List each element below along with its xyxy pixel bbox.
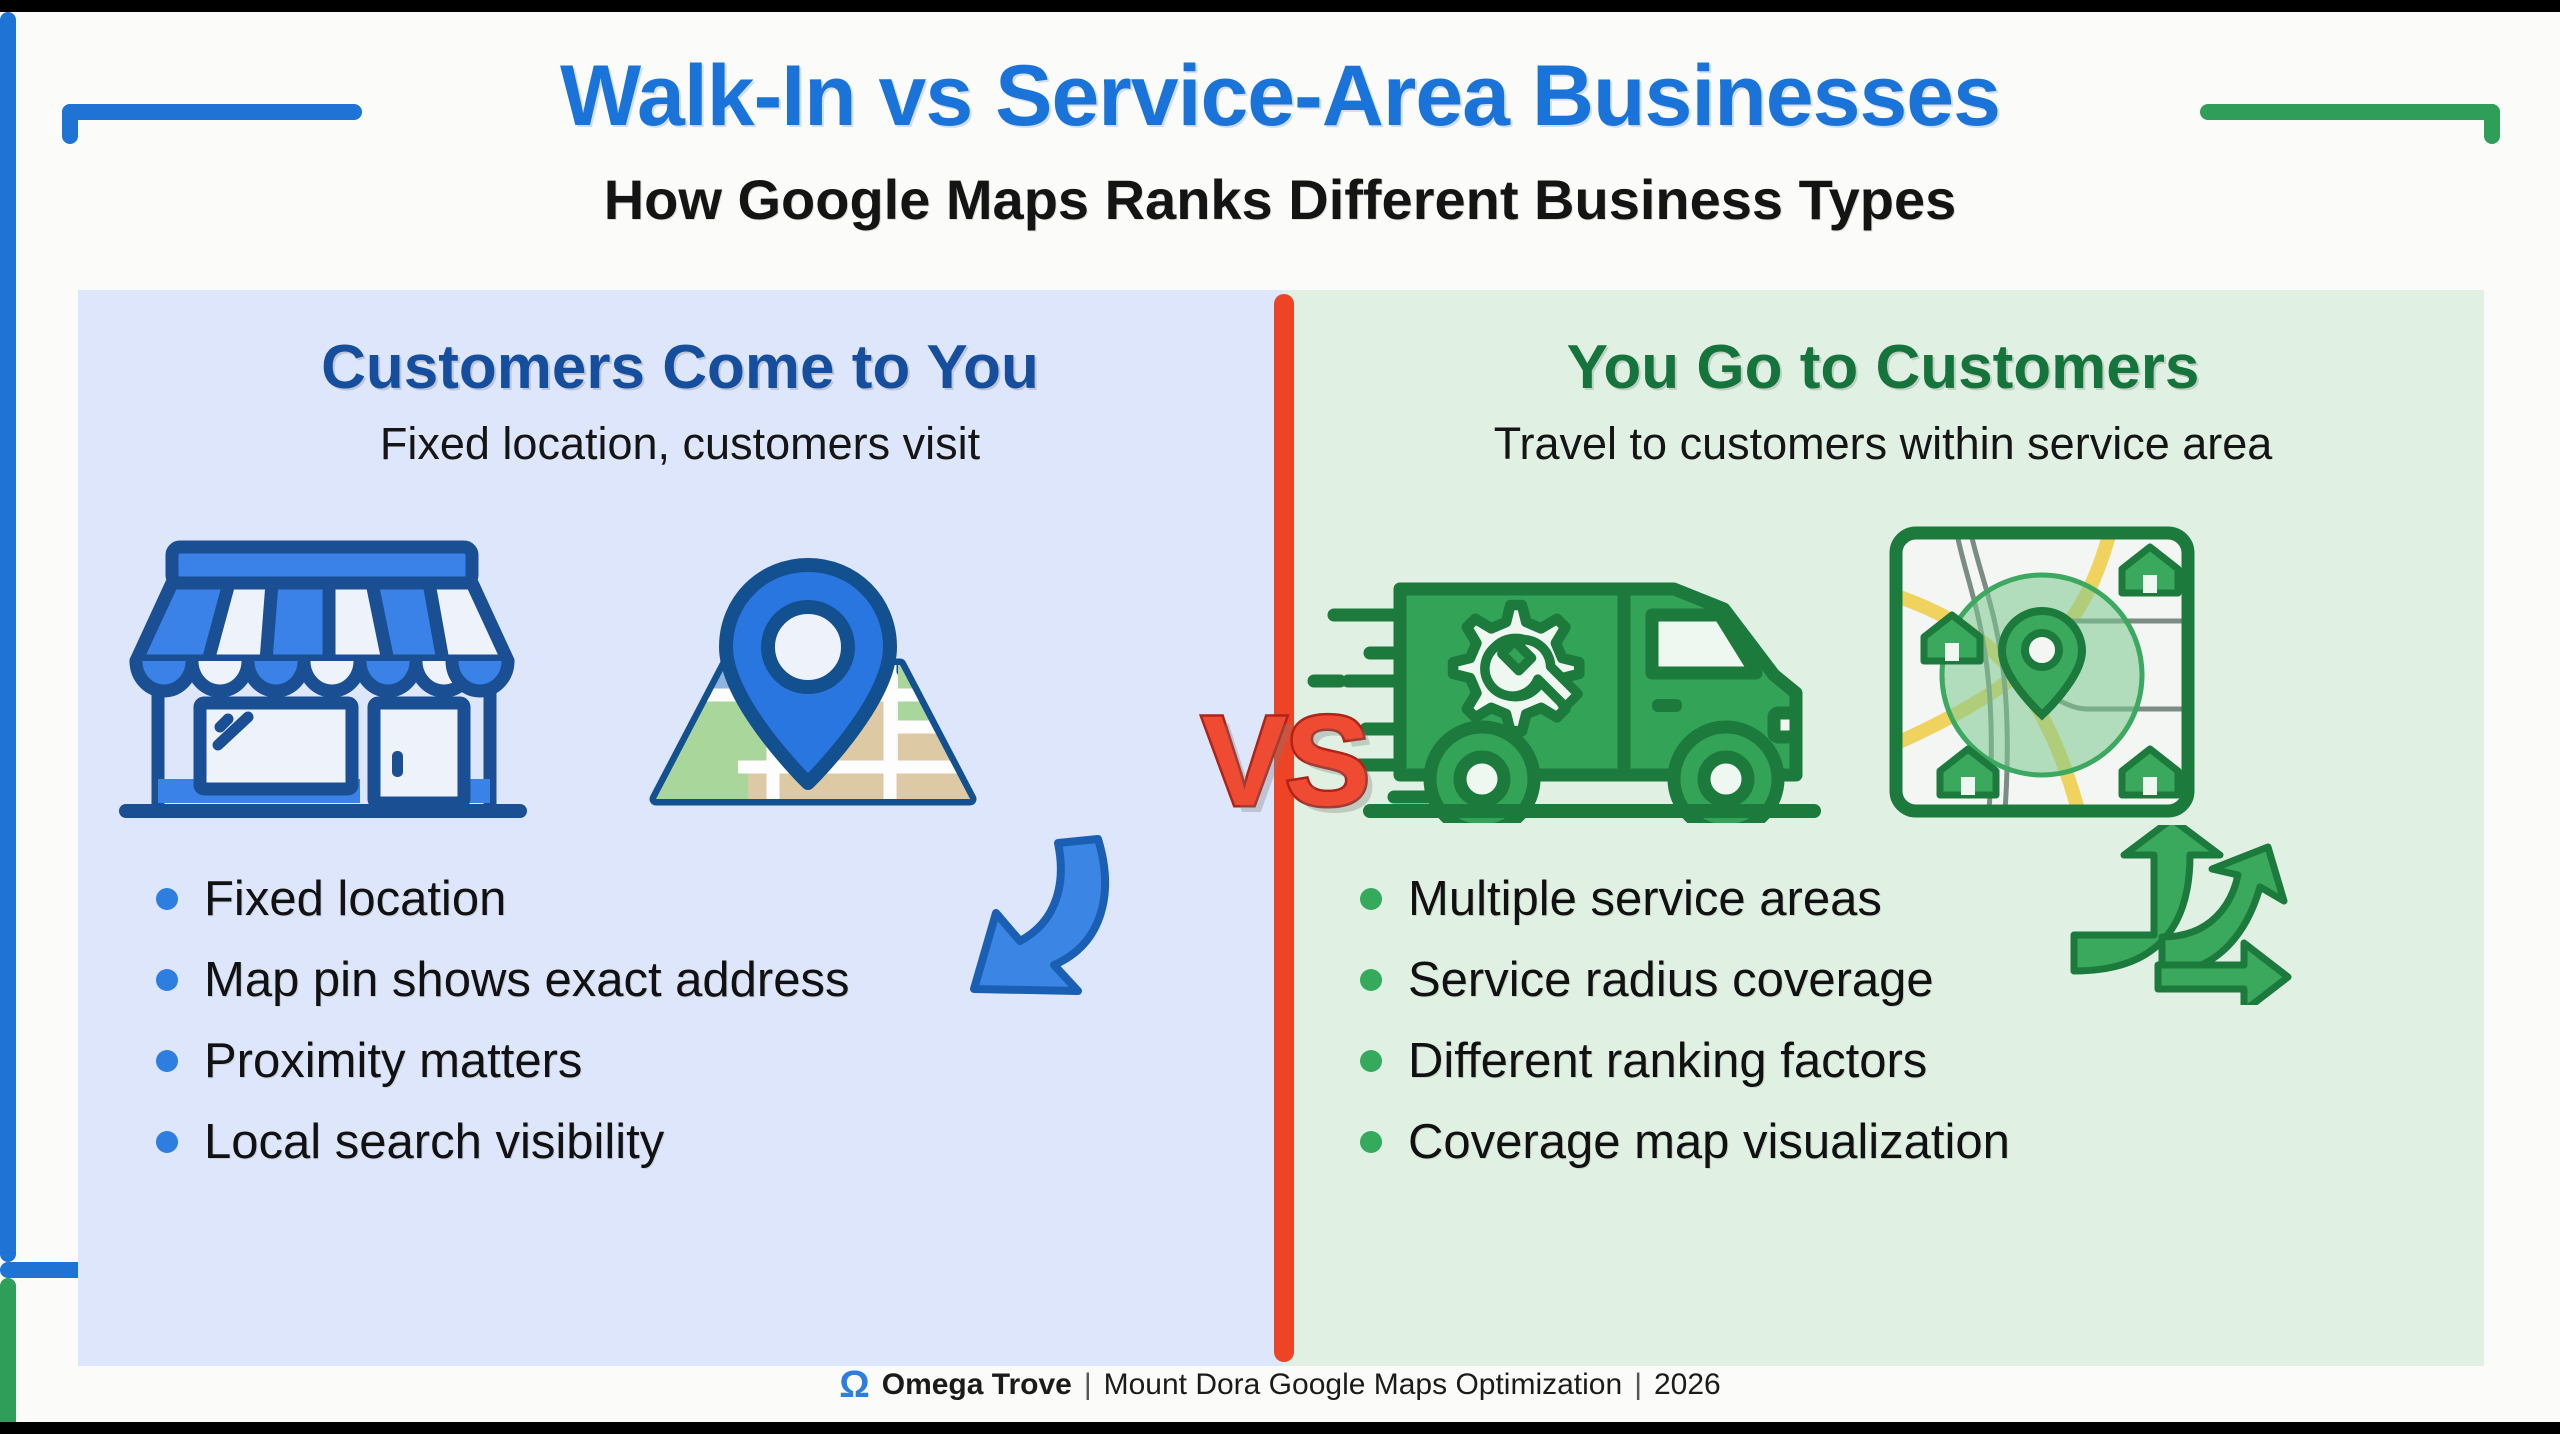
vs-badge: VS — [1160, 688, 1410, 835]
bullet-text: Local search visibility — [204, 1114, 664, 1170]
page-title: Walk-In vs Service-Area Businesses — [0, 47, 2560, 146]
bullet-dot-icon — [156, 1050, 178, 1072]
left-panel-subheading: Fixed location, customers visit — [78, 418, 1282, 470]
bullet-dot-icon — [1360, 969, 1382, 991]
right-panel-heading: You Go to Customers — [1282, 332, 2484, 403]
panel-service-area: You Go to Customers Travel to customers … — [1282, 290, 2484, 1366]
left-panel-artwork — [78, 525, 1282, 825]
bullet-text: Map pin shows exact address — [204, 952, 850, 1008]
bullet-text: Different ranking factors — [1408, 1033, 1927, 1089]
bullet-dot-icon — [156, 1131, 178, 1153]
omega-logo-icon: Ω — [839, 1366, 869, 1404]
right-panel-artwork — [1282, 525, 2484, 825]
list-item: Different ranking factors — [1360, 1020, 2420, 1101]
list-item: Map pin shows exact address — [156, 939, 1216, 1020]
bullet-dot-icon — [156, 969, 178, 991]
infographic-card: Walk-In vs Service-Area Businesses How G… — [0, 12, 2560, 1422]
list-item: Fixed location — [156, 858, 1216, 939]
infographic-stage: Walk-In vs Service-Area Businesses How G… — [0, 0, 2560, 1434]
right-bullet-list: Multiple service areas Service radius co… — [1360, 858, 2420, 1182]
bullet-text: Fixed location — [204, 871, 506, 927]
map-pin-icon — [598, 547, 1018, 827]
right-panel-subheading: Travel to customers within service area — [1282, 418, 2484, 470]
bullet-text: Coverage map visualization — [1408, 1114, 2010, 1170]
list-item: Multiple service areas — [1360, 858, 2420, 939]
bullet-text: Service radius coverage — [1408, 952, 1934, 1008]
bullet-dot-icon — [1360, 1131, 1382, 1153]
bullet-dot-icon — [1360, 888, 1382, 910]
bullet-dot-icon — [1360, 1050, 1382, 1072]
footer-year: 2026 — [1654, 1368, 1721, 1402]
storefront-icon — [116, 535, 536, 825]
footer-brand: Omega Trove — [882, 1368, 1072, 1402]
list-item: Local search visibility — [156, 1101, 1216, 1182]
bullet-dot-icon — [156, 888, 178, 910]
coverage-map-icon — [1882, 525, 2202, 825]
list-item: Coverage map visualization — [1360, 1101, 2420, 1182]
footer-separator: | — [1634, 1368, 1642, 1402]
header: Walk-In vs Service-Area Businesses How G… — [0, 12, 2560, 282]
page-subtitle: How Google Maps Ranks Different Business… — [0, 167, 2560, 232]
left-bullet-list: Fixed location Map pin shows exact addre… — [156, 858, 1216, 1182]
footer-separator: | — [1084, 1368, 1092, 1402]
bullet-text: Proximity matters — [204, 1033, 582, 1089]
list-item: Service radius coverage — [1360, 939, 2420, 1020]
list-item: Proximity matters — [156, 1020, 1216, 1101]
left-panel-heading: Customers Come to You — [78, 332, 1282, 403]
footer: Ω Omega Trove | Mount Dora Google Maps O… — [0, 1366, 2560, 1404]
panel-walk-in: Customers Come to You Fixed location, cu… — [78, 290, 1282, 1366]
footer-tagline: Mount Dora Google Maps Optimization — [1104, 1368, 1623, 1402]
bullet-text: Multiple service areas — [1408, 871, 1882, 927]
